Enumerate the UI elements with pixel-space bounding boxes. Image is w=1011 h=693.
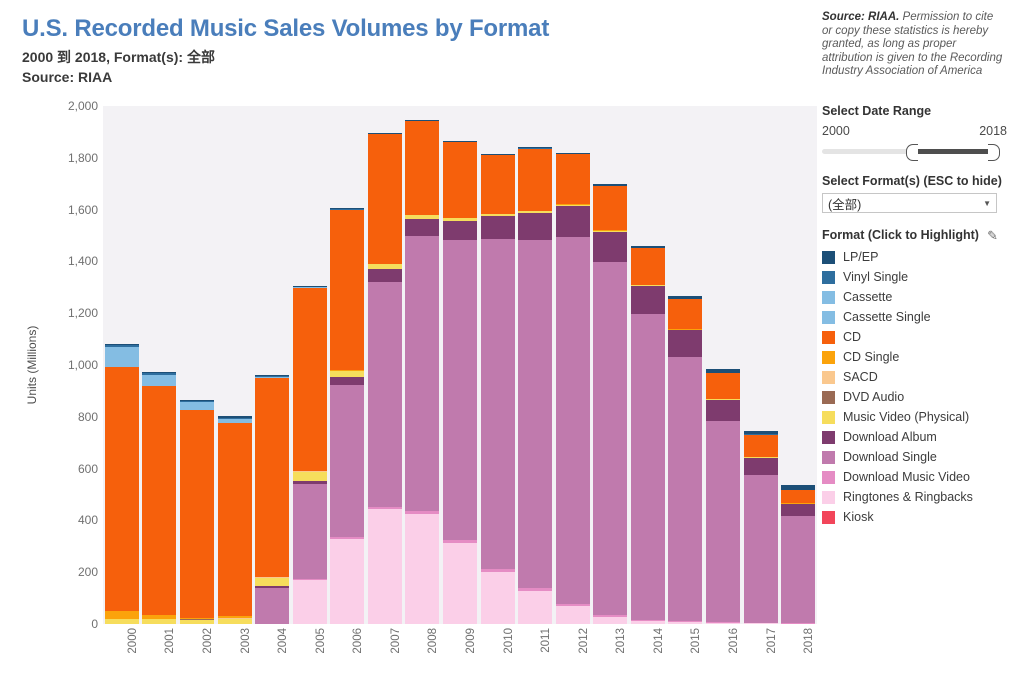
legend-item-label: CD [843, 330, 861, 344]
y-axis-tick: 800 [40, 410, 98, 424]
bar-2012[interactable] [556, 153, 590, 624]
bar-segment[interactable] [593, 262, 627, 614]
legend-item-label: Download Music Video [843, 470, 970, 484]
bar-2005[interactable] [293, 287, 327, 624]
bar-segment[interactable] [706, 421, 740, 622]
bar-segment[interactable] [293, 286, 327, 287]
bar-2001[interactable] [142, 373, 176, 624]
bar-segment[interactable] [631, 285, 665, 286]
bar-segment[interactable] [593, 184, 627, 186]
bar-segment[interactable] [443, 141, 477, 142]
bar-segment[interactable] [744, 435, 778, 458]
bar-segment[interactable] [293, 484, 327, 579]
legend-swatch-icon [822, 291, 835, 304]
format-filter-label: Select Format(s) (ESC to hide) [822, 174, 1007, 188]
x-axis-tick-2000: 2000 [127, 628, 139, 654]
bar-segment[interactable] [706, 400, 740, 421]
x-axis-tick-2015: 2015 [690, 628, 702, 654]
bar-segment[interactable] [255, 377, 289, 378]
bar-segment[interactable] [405, 219, 439, 236]
bar-segment[interactable] [293, 481, 327, 485]
bar-segment[interactable] [443, 543, 477, 624]
legend-swatch-icon [822, 271, 835, 284]
legend-item-kiosk[interactable]: Kiosk [822, 507, 1011, 527]
bar-2015[interactable] [668, 296, 702, 624]
bar-segment[interactable] [180, 618, 214, 619]
chevron-down-icon: ▼ [983, 199, 991, 208]
y-axis-tick: 200 [40, 565, 98, 579]
bar-segment[interactable] [556, 606, 590, 624]
format-dropdown[interactable]: (全部) ▼ [822, 193, 997, 213]
bar-segment[interactable] [330, 210, 364, 370]
bar-segment[interactable] [481, 572, 515, 624]
bar-segment[interactable] [744, 458, 778, 475]
legend-item-label: Music Video (Physical) [843, 410, 969, 424]
x-axis-tick-2003: 2003 [240, 628, 252, 654]
bar-segment[interactable] [593, 615, 627, 617]
y-axis-tick: 1,600 [40, 203, 98, 217]
bar-2000[interactable] [105, 345, 139, 624]
header: U.S. Recorded Music Sales Volumes by For… [22, 14, 802, 87]
legend-item-label: Vinyl Single [843, 270, 908, 284]
page-source: Source: RIAA [22, 68, 802, 87]
y-axis-tick: 1,800 [40, 151, 98, 165]
legend-swatch-icon [822, 351, 835, 364]
bar-segment[interactable] [556, 604, 590, 607]
bar-segment[interactable] [443, 540, 477, 543]
bar-segment[interactable] [518, 213, 552, 240]
bar-segment[interactable] [180, 402, 214, 410]
bar-segment[interactable] [631, 246, 665, 248]
legend-swatch-icon [822, 371, 835, 384]
bar-segment[interactable] [293, 580, 327, 624]
bar-segment[interactable] [481, 214, 515, 216]
legend-item-label: CD Single [843, 350, 899, 364]
legend-swatch-icon [822, 451, 835, 464]
bar-2013[interactable] [593, 184, 627, 624]
bar-segment[interactable] [481, 154, 515, 155]
bar-segment[interactable] [518, 591, 552, 624]
bar-segment[interactable] [330, 377, 364, 384]
bar-2003[interactable] [218, 417, 252, 624]
bar-segment[interactable] [368, 507, 402, 509]
y-axis-tick: 2,000 [40, 99, 98, 113]
bar-segment[interactable] [631, 286, 665, 314]
bar-segment[interactable] [180, 410, 214, 618]
slider-fill [910, 149, 995, 154]
legend-item-ringtones-ringbacks[interactable]: Ringtones & Ringbacks [822, 487, 1011, 507]
bar-segment[interactable] [443, 142, 477, 218]
legend-item-label: Download Single [843, 450, 937, 464]
bar-segment[interactable] [330, 208, 364, 209]
x-axis-tick-2007: 2007 [390, 628, 402, 654]
bar-segment[interactable] [405, 236, 439, 511]
x-axis: 2000200120022003200420052006200720082009… [103, 628, 817, 690]
bar-segment[interactable] [781, 485, 815, 489]
date-range-label: Select Date Range [822, 104, 1007, 118]
bar-segment[interactable] [330, 539, 364, 624]
legend-swatch-icon [822, 251, 835, 264]
stacked-bar-chart [103, 106, 817, 624]
legend-item-label: DVD Audio [843, 390, 904, 404]
y-axis-tick: 400 [40, 513, 98, 527]
legend-item-label: Kiosk [843, 510, 874, 524]
y-axis: Units (Millions) 02004006008001,0001,200… [40, 106, 98, 624]
bar-2011[interactable] [518, 147, 552, 624]
bar-segment[interactable] [255, 578, 289, 587]
page-title: U.S. Recorded Music Sales Volumes by For… [22, 14, 802, 44]
legend-item-lp-ep[interactable]: LP/EP [822, 247, 1011, 267]
bar-segment[interactable] [781, 490, 815, 503]
page-subtitle: 2000 到 2018, Format(s): 全部 [22, 48, 802, 67]
bar-segment[interactable] [405, 511, 439, 514]
x-axis-tick-2002: 2002 [202, 628, 214, 654]
bar-segment[interactable] [668, 330, 702, 357]
x-axis-tick-2001: 2001 [164, 628, 176, 654]
bar-segment[interactable] [368, 134, 402, 264]
bar-2006[interactable] [330, 209, 364, 624]
bar-segment[interactable] [556, 154, 590, 204]
bar-segment[interactable] [105, 345, 139, 346]
bar-segment[interactable] [142, 375, 176, 387]
bar-segment[interactable] [631, 621, 665, 624]
bar-segment[interactable] [481, 239, 515, 569]
legend-swatch-icon [822, 391, 835, 404]
bar-segment[interactable] [142, 372, 176, 373]
bar-segment[interactable] [218, 619, 252, 624]
y-axis-title: Units (Millions) [25, 326, 39, 405]
bar-2008[interactable] [405, 121, 439, 624]
bar-segment[interactable] [218, 416, 252, 417]
y-axis-tick: 0 [40, 617, 98, 631]
legend-item-label: Cassette Single [843, 310, 931, 324]
bar-segment[interactable] [218, 616, 252, 618]
legend-item-download-music-video[interactable]: Download Music Video [822, 467, 1011, 487]
x-axis-tick-2013: 2013 [615, 628, 627, 654]
legend-item-download-single[interactable]: Download Single [822, 447, 1011, 467]
legend-header: Format (Click to Highlight) ✎ [822, 228, 998, 242]
bar-segment[interactable] [668, 299, 702, 329]
legend-section: Format (Click to Highlight) ✎ LP/EPVinyl… [822, 228, 1011, 527]
bar-segment[interactable] [142, 386, 176, 614]
y-axis-tick: 1,200 [40, 306, 98, 320]
legend-swatch-icon [822, 511, 835, 524]
x-axis-tick-2006: 2006 [352, 628, 364, 654]
x-axis-tick-2009: 2009 [465, 628, 477, 654]
highlighter-icon[interactable]: ✎ [987, 229, 998, 242]
x-axis-tick-2012: 2012 [578, 628, 590, 654]
bar-segment[interactable] [481, 569, 515, 572]
bar-segment[interactable] [105, 344, 139, 345]
bar-segment[interactable] [368, 509, 402, 624]
x-axis-tick-2004: 2004 [277, 628, 289, 654]
bar-segment[interactable] [443, 218, 477, 221]
x-axis-tick-2010: 2010 [503, 628, 515, 654]
bar-segment[interactable] [593, 232, 627, 263]
bar-segment[interactable] [255, 588, 289, 624]
bar-segment[interactable] [706, 623, 740, 624]
bar-segment[interactable] [481, 216, 515, 238]
bar-segment[interactable] [180, 620, 214, 624]
legend-item-label: Download Album [843, 430, 937, 444]
bar-segment[interactable] [405, 514, 439, 624]
bar-2018[interactable] [781, 485, 815, 624]
bar-segment[interactable] [518, 240, 552, 588]
bar-segment[interactable] [105, 619, 139, 624]
bar-segment[interactable] [443, 221, 477, 241]
bar-segment[interactable] [631, 314, 665, 620]
x-axis-tick-2011: 2011 [540, 628, 552, 653]
x-axis-tick-2017: 2017 [766, 628, 778, 654]
bar-segment[interactable] [518, 211, 552, 213]
bar-segment[interactable] [556, 205, 590, 207]
legend-item-download-album[interactable]: Download Album [822, 427, 1011, 447]
bar-segment[interactable] [105, 347, 139, 367]
bar-segment[interactable] [368, 269, 402, 282]
source-note: Source: RIAA. Permission to cite or copy… [822, 11, 1005, 79]
x-axis-tick-2018: 2018 [803, 628, 815, 654]
legend-items: LP/EPVinyl SingleCassetteCassette Single… [822, 247, 1011, 527]
bar-2009[interactable] [443, 141, 477, 624]
bar-2014[interactable] [631, 246, 665, 624]
bar-segment[interactable] [668, 621, 702, 622]
date-range-slider[interactable] [822, 142, 999, 160]
format-dropdown-value: (全部) [828, 194, 861, 213]
slider-handle-right[interactable] [988, 144, 1000, 161]
source-note-bold: Source: RIAA. [822, 11, 899, 23]
legend-swatch-icon [822, 491, 835, 504]
date-range-min: 2000 [822, 124, 850, 138]
bar-segment[interactable] [405, 120, 439, 121]
legend-item-label: Cassette [843, 290, 892, 304]
bar-segment[interactable] [368, 264, 402, 269]
legend-swatch-icon [822, 331, 835, 344]
bar-segment[interactable] [293, 472, 327, 481]
legend-item-dvd-audio[interactable]: DVD Audio [822, 387, 1011, 407]
legend-item-cd-single[interactable]: CD Single [822, 347, 1011, 367]
bar-segment[interactable] [781, 504, 815, 516]
bar-segment[interactable] [142, 619, 176, 624]
x-axis-tick-2005: 2005 [315, 628, 327, 654]
date-range-values: 2000 2018 [822, 124, 1007, 138]
bar-segment[interactable] [218, 417, 252, 418]
date-range-section: Select Date Range 2000 2018 [822, 104, 1007, 160]
right-panel: Source: RIAA. Permission to cite or copy… [822, 0, 1011, 693]
bar-segment[interactable] [443, 240, 477, 540]
bar-segment[interactable] [706, 373, 740, 399]
bar-segment[interactable] [218, 419, 252, 423]
bar-segment[interactable] [593, 186, 627, 230]
bar-segment[interactable] [330, 371, 364, 378]
bar-segment[interactable] [218, 423, 252, 616]
bar-segment[interactable] [255, 586, 289, 587]
bar-segment[interactable] [368, 282, 402, 506]
bar-segment[interactable] [180, 401, 214, 402]
bar-segment[interactable] [368, 133, 402, 134]
legend-item-label: SACD [843, 370, 878, 384]
legend-item-music-video-physical[interactable]: Music Video (Physical) [822, 407, 1011, 427]
bar-segment[interactable] [330, 385, 364, 537]
bar-segment[interactable] [142, 373, 176, 374]
bar-segment[interactable] [593, 231, 627, 232]
bar-segment[interactable] [180, 400, 214, 401]
legend-item-cassette-single[interactable]: Cassette Single [822, 307, 1011, 327]
bar-2017[interactable] [744, 431, 778, 624]
x-axis-tick-2014: 2014 [653, 628, 665, 654]
bar-segment[interactable] [293, 288, 327, 471]
bar-segment[interactable] [706, 622, 740, 623]
y-axis-tick: 1,400 [40, 254, 98, 268]
bar-segment[interactable] [255, 375, 289, 376]
bar-segment[interactable] [105, 367, 139, 611]
legend-swatch-icon [822, 431, 835, 444]
bar-segment[interactable] [518, 588, 552, 591]
y-axis-tick: 1,000 [40, 358, 98, 372]
legend-swatch-icon [822, 311, 835, 324]
date-range-max: 2018 [979, 124, 1007, 138]
bar-segment[interactable] [668, 622, 702, 624]
legend-item-label: Ringtones & Ringbacks [843, 490, 973, 504]
x-axis-tick-2016: 2016 [728, 628, 740, 654]
bar-segment[interactable] [142, 615, 176, 619]
bar-segment[interactable] [744, 431, 778, 435]
slider-handle-left[interactable] [906, 144, 918, 161]
bar-2002[interactable] [180, 400, 214, 624]
bar-segment[interactable] [330, 537, 364, 539]
bar-segment[interactable] [706, 369, 740, 372]
bar-segment[interactable] [405, 215, 439, 219]
format-filter-section: Select Format(s) (ESC to hide) (全部) ▼ [822, 174, 1007, 213]
legend-item-sacd[interactable]: SACD [822, 367, 1011, 387]
bar-segment[interactable] [481, 155, 515, 213]
legend-swatch-icon [822, 471, 835, 484]
bar-segment[interactable] [105, 611, 139, 620]
bar-2004[interactable] [255, 376, 289, 624]
bar-segment[interactable] [668, 296, 702, 299]
bar-segment[interactable] [556, 237, 590, 604]
bar-2016[interactable] [706, 369, 740, 624]
bar-segment[interactable] [255, 378, 289, 577]
bar-segment[interactable] [518, 147, 552, 148]
y-axis-tick: 600 [40, 462, 98, 476]
legend-item-vinyl-single[interactable]: Vinyl Single [822, 267, 1011, 287]
chart-plot-area [103, 106, 817, 624]
bar-segment[interactable] [781, 516, 815, 623]
legend-item-cd[interactable]: CD [822, 327, 1011, 347]
legend-item-label: LP/EP [843, 250, 878, 264]
bar-segment[interactable] [668, 357, 702, 621]
bar-2007[interactable] [368, 134, 402, 624]
legend-item-cassette[interactable]: Cassette [822, 287, 1011, 307]
bar-segment[interactable] [556, 153, 590, 154]
legend-title: Format (Click to Highlight) [822, 228, 979, 242]
bar-segment[interactable] [744, 475, 778, 623]
bar-segment[interactable] [593, 617, 627, 624]
bar-segment[interactable] [405, 121, 439, 214]
bar-segment[interactable] [631, 248, 665, 285]
bar-segment[interactable] [556, 206, 590, 237]
bar-2010[interactable] [481, 154, 515, 624]
bar-segment[interactable] [518, 149, 552, 211]
bar-segment[interactable] [631, 620, 665, 622]
legend-swatch-icon [822, 411, 835, 424]
x-axis-tick-2008: 2008 [427, 628, 439, 654]
